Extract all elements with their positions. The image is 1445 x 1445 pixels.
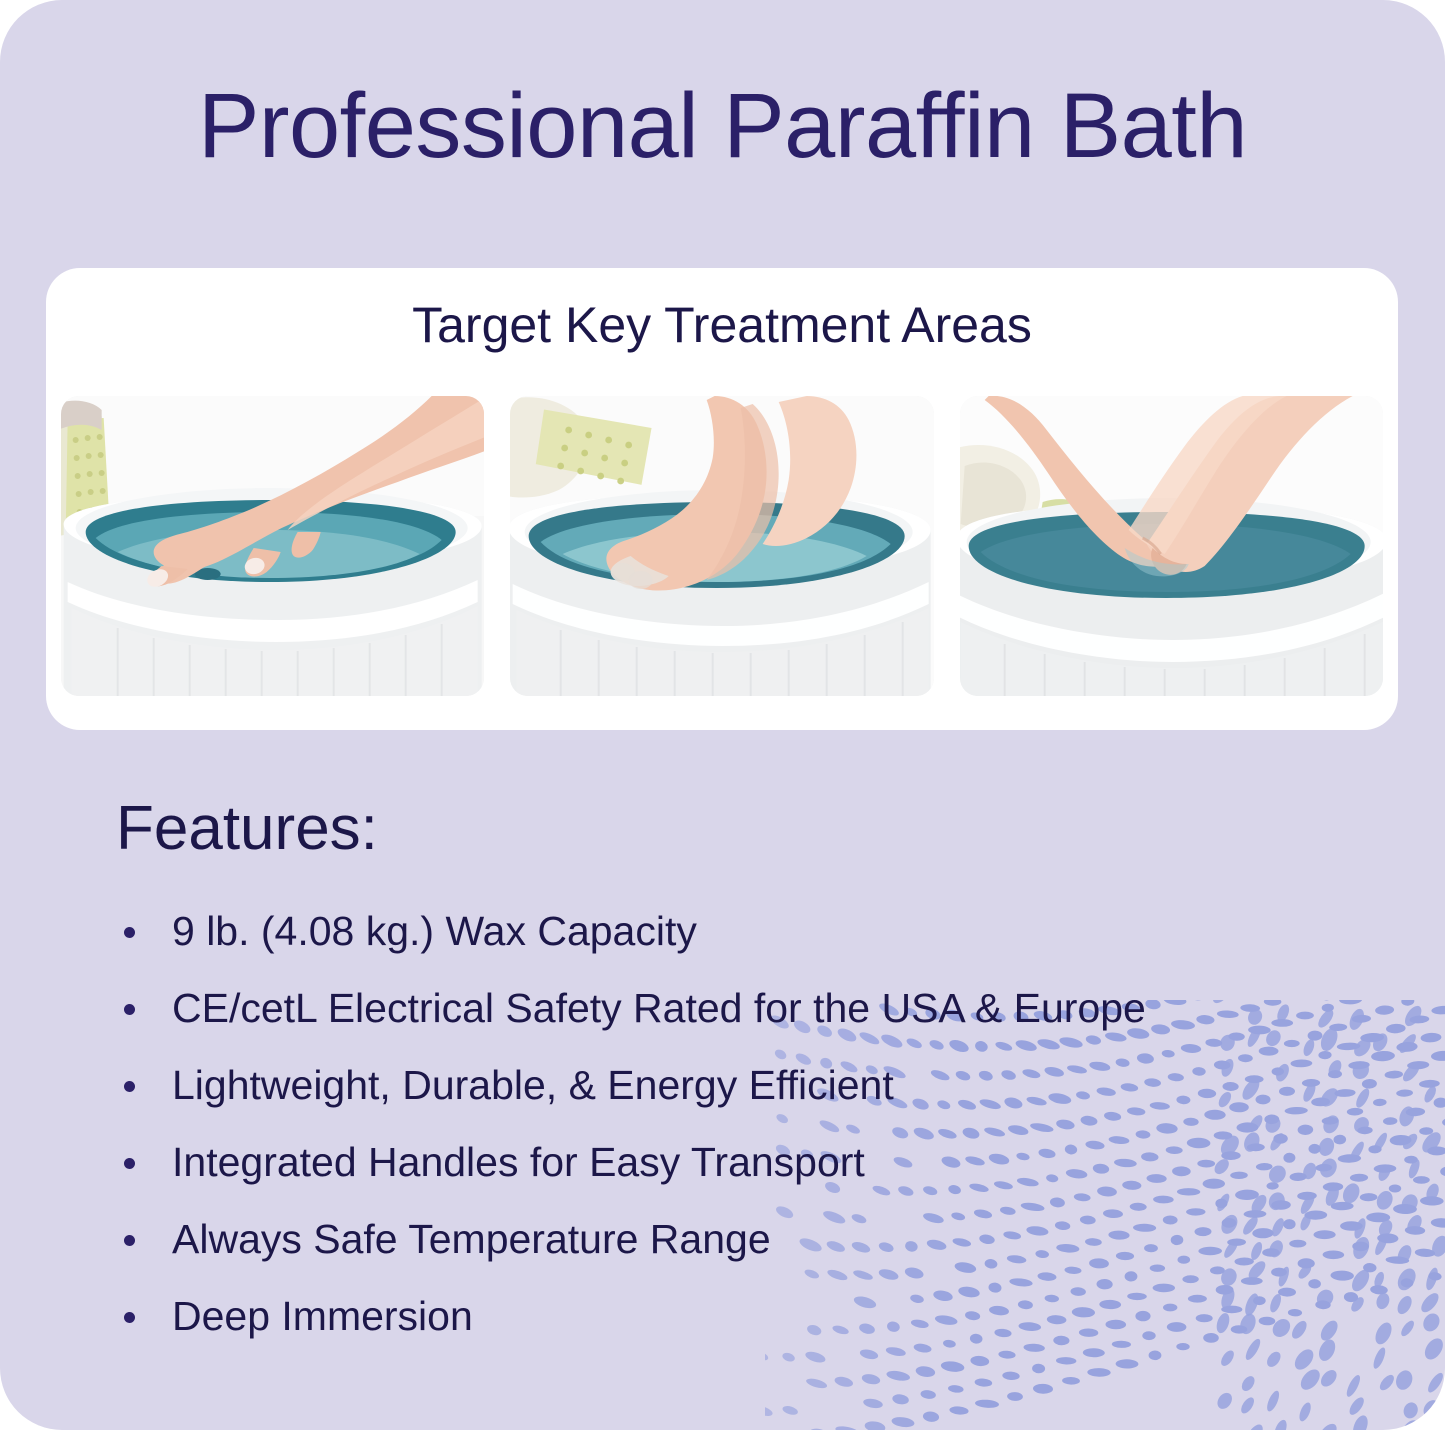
bullet-dot-icon: [124, 1081, 135, 1092]
list-item: Integrated Handles for Easy Transport: [116, 1129, 1236, 1195]
photo-hand-in-paraffin-bath: [61, 396, 484, 696]
bullet-dot-icon: [124, 1158, 135, 1169]
list-item: CE/cetL Electrical Safety Rated for the …: [116, 975, 1236, 1041]
treatment-areas-card: Target Key Treatment Areas: [46, 268, 1398, 730]
list-item: Lightweight, Durable, & Energy Efficient: [116, 1052, 1236, 1118]
bullet-dot-icon: [124, 1235, 135, 1246]
card-heading: Target Key Treatment Areas: [46, 296, 1398, 354]
bullet-dot-icon: [124, 927, 135, 938]
list-item-label: 9 lb. (4.08 kg.) Wax Capacity: [172, 908, 697, 954]
list-item: Deep Immersion: [116, 1283, 1236, 1349]
list-item: Always Safe Temperature Range: [116, 1206, 1236, 1272]
photo-foot-in-paraffin-bath: [510, 396, 933, 696]
list-item-label: Integrated Handles for Easy Transport: [172, 1139, 865, 1185]
bullet-dot-icon: [124, 1004, 135, 1015]
page-title: Professional Paraffin Bath: [0, 74, 1445, 178]
list-item-label: Always Safe Temperature Range: [172, 1216, 771, 1262]
list-item-label: CE/cetL Electrical Safety Rated for the …: [172, 985, 1146, 1031]
features-list: 9 lb. (4.08 kg.) Wax Capacity CE/cetL El…: [116, 898, 1236, 1360]
photo-elbow-in-paraffin-bath: [960, 396, 1383, 696]
infographic-panel: Professional Paraffin Bath Target Key Tr…: [0, 0, 1445, 1430]
list-item-label: Lightweight, Durable, & Energy Efficient: [172, 1062, 894, 1108]
list-item-label: Deep Immersion: [172, 1293, 473, 1339]
treatment-photo-row: [61, 396, 1383, 696]
bullet-dot-icon: [124, 1312, 135, 1323]
features-heading: Features:: [116, 793, 378, 865]
list-item: 9 lb. (4.08 kg.) Wax Capacity: [116, 898, 1236, 964]
